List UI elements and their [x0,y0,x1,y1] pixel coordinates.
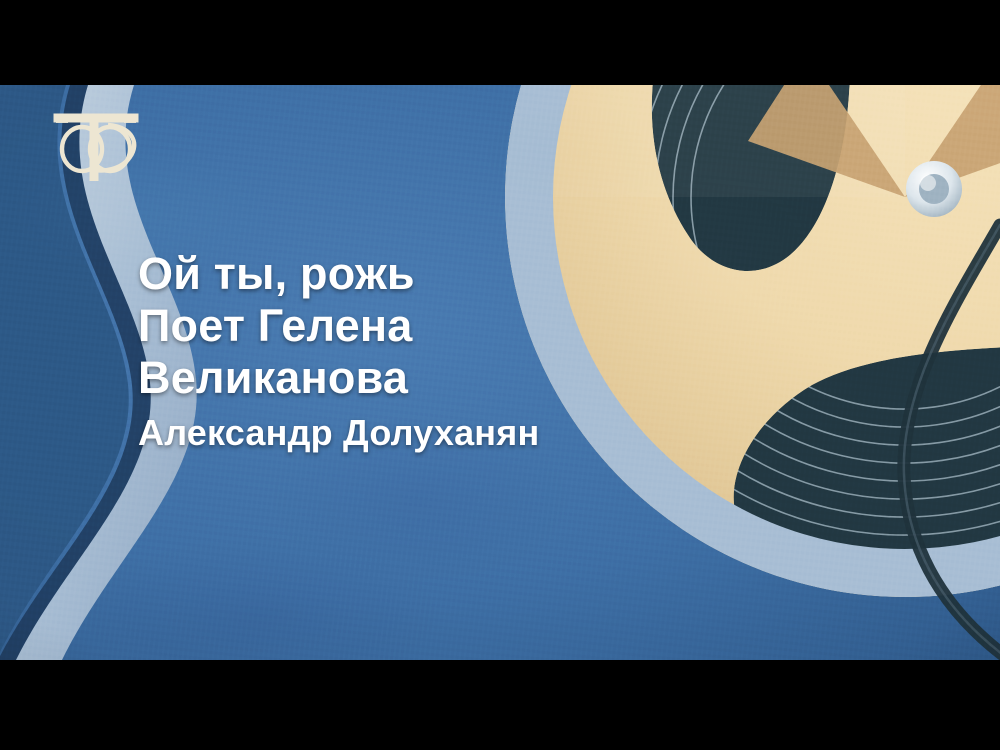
gosteleradiofond-logo-icon [48,103,144,189]
title-line-2: Поет Гелена [138,300,698,352]
composer-name: Александр Долуханян [138,412,698,454]
logo-bar-cap-left [56,114,68,123]
logo-bar-cap-right [124,114,136,123]
title-line-1: Ой ты, рожь [138,248,698,300]
title-card-stage: Ой ты, рожь Поет Гелена Великанова Алекс… [0,0,1000,750]
reel-hub-highlight [920,175,936,191]
title-block: Ой ты, рожь Поет Гелена Великанова Алекс… [138,248,698,454]
title-line-3: Великанова [138,352,698,404]
letterbox-bar-bottom [0,660,1000,750]
video-frame: Ой ты, рожь Поет Гелена Великанова Алекс… [0,85,1000,660]
letterbox-bar-top [0,0,1000,85]
